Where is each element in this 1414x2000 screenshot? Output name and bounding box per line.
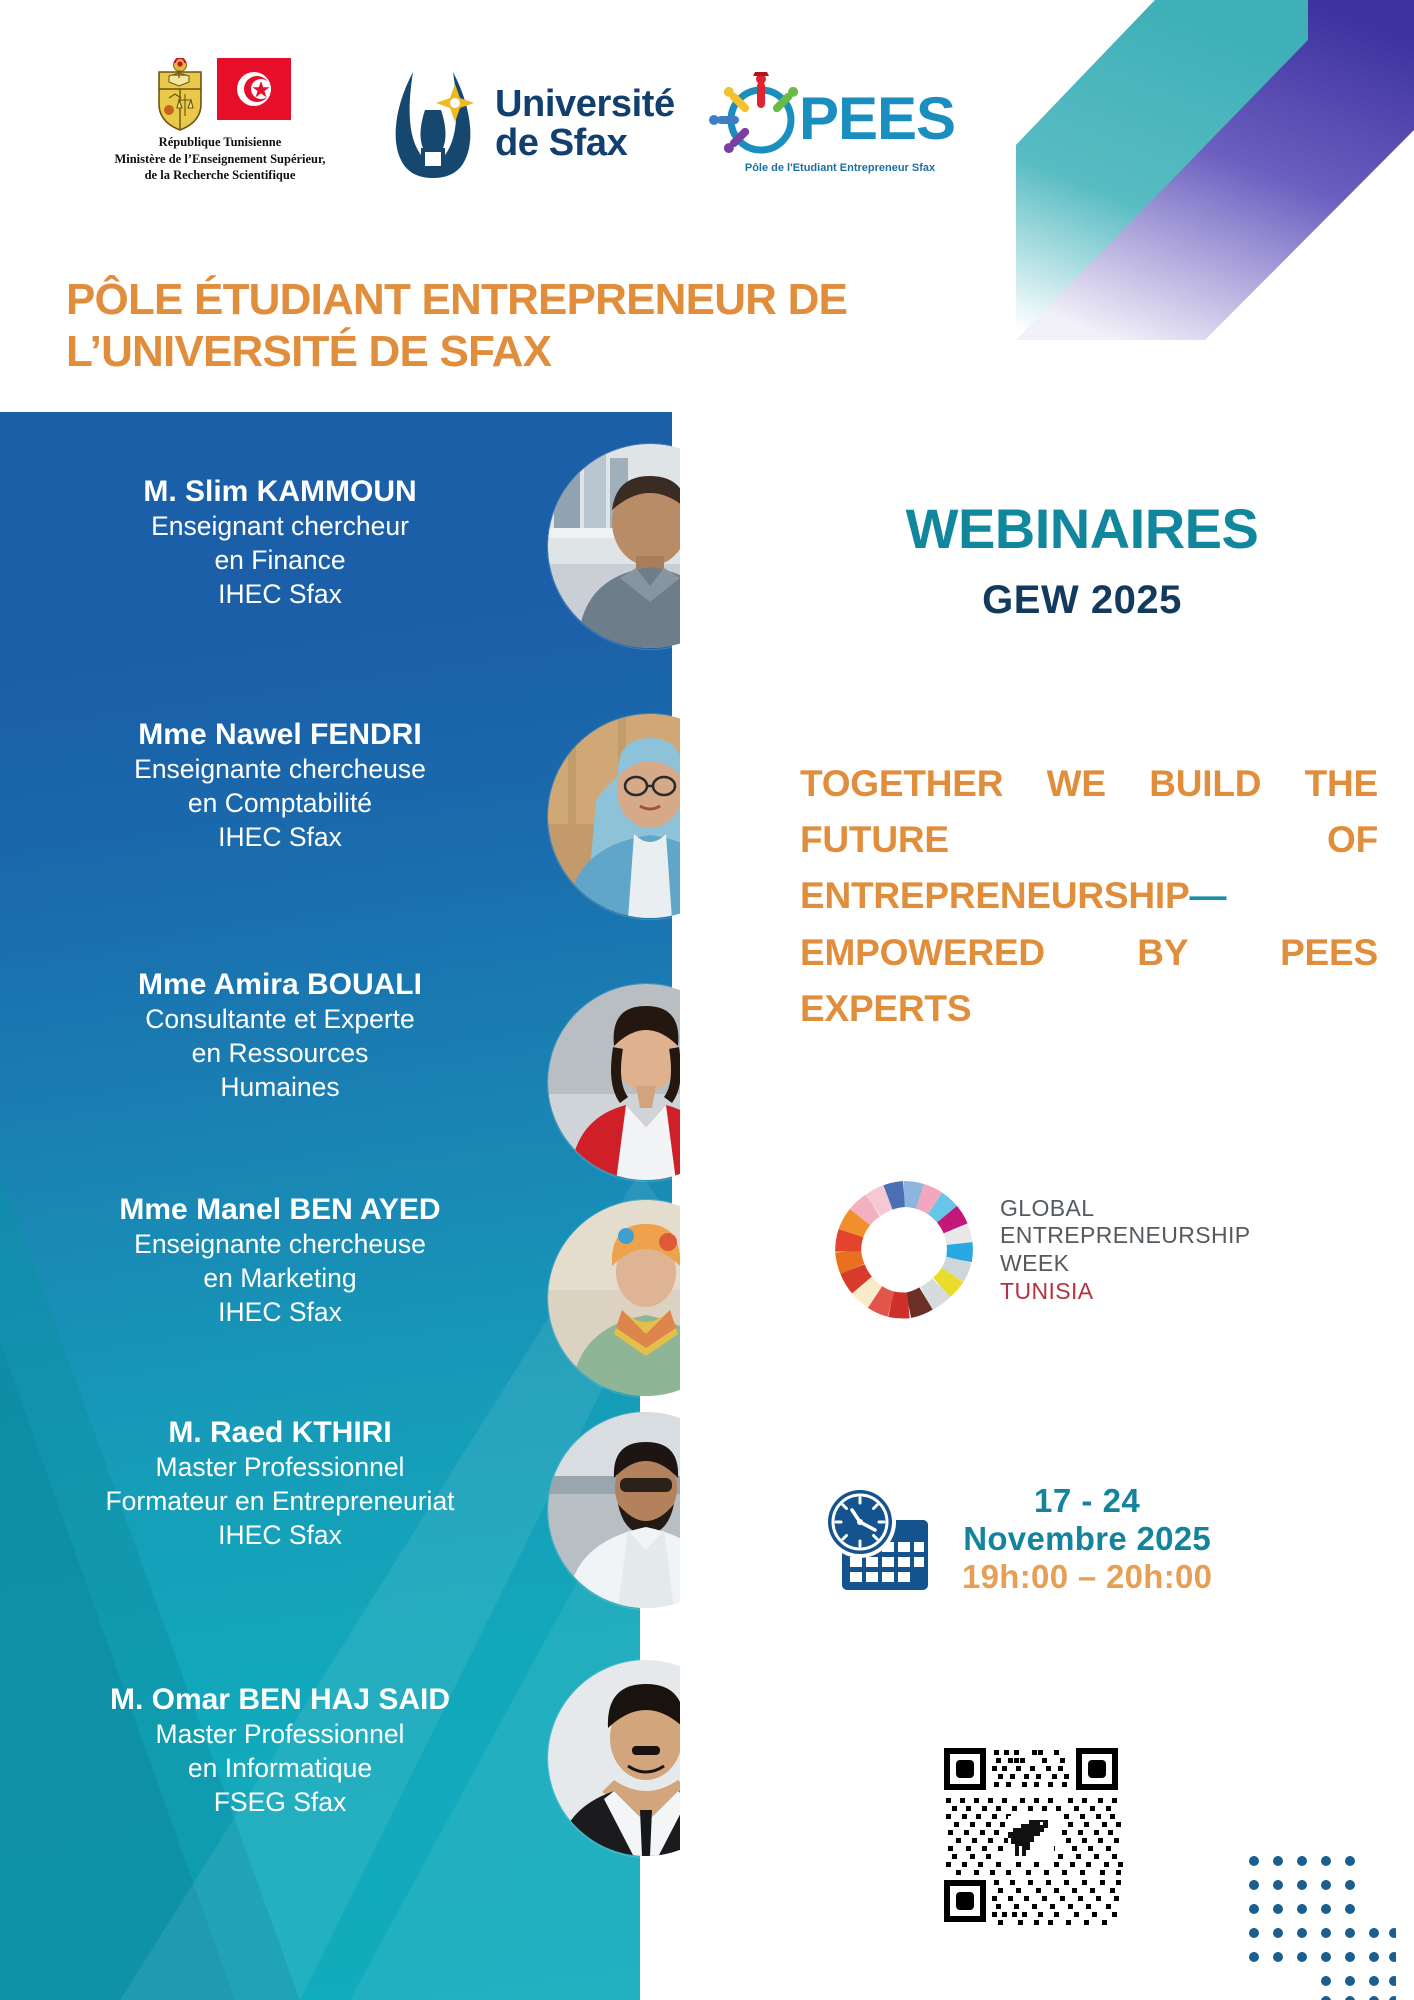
gew-logo-line-4: TUNISIA — [1000, 1278, 1251, 1306]
speaker-item: Mme Manel BEN AYED Enseignante chercheus… — [0, 1192, 560, 1330]
tunisia-flag-icon — [217, 58, 291, 120]
schedule-days: 17 - 24 — [962, 1482, 1212, 1520]
speaker-role-1: Enseignante chercheuse — [0, 1228, 560, 1262]
speaker-role-1: Master Professionnel — [0, 1718, 560, 1752]
pees-logo: PEES Pôle de l'Etudiant Entrepreneur Sfa… — [715, 72, 965, 174]
pees-acronym: PEES — [799, 84, 955, 153]
iso-ribbon-decoration — [990, 0, 1414, 340]
speaker-item: M. Slim KAMMOUN Enseignant chercheur en … — [0, 474, 560, 612]
gew-subheading: GEW 2025 — [822, 578, 1342, 623]
speaker-role-2: en Ressources — [0, 1037, 560, 1071]
speaker-role-3: IHEC Sfax — [0, 1296, 560, 1330]
gew-logo-line-1: GLOBAL — [1000, 1195, 1251, 1223]
header-logos: République Tunisienne Ministère de l’Ens… — [0, 62, 1000, 202]
speaker-item: Mme Amira BOUALI Consultante et Experte … — [0, 967, 560, 1105]
speaker-role-1: Enseignante chercheuse — [0, 753, 560, 787]
speaker-role-3: Humaines — [0, 1071, 560, 1105]
speakers-panel: M. Slim KAMMOUN Enseignant chercheur en … — [0, 412, 680, 2000]
speaker-name: Mme Amira BOUALI — [0, 967, 560, 1003]
speaker-role-3: IHEC Sfax — [0, 821, 560, 855]
page-title-line-1: PÔLE ÉTUDIANT ENTREPRENEUR DE — [66, 274, 996, 326]
page-title: PÔLE ÉTUDIANT ENTREPRENEUR DE L’UNIVERSI… — [66, 274, 996, 378]
speaker-role-2: en Informatique — [0, 1752, 560, 1786]
speaker-name: Mme Nawel FENDRI — [0, 717, 560, 753]
speaker-role-2: en Finance — [0, 544, 560, 578]
tagline: TOGETHER WE BUILD THE FUTURE OF ENTREPRE… — [800, 756, 1378, 1037]
speaker-item: M. Raed KTHIRI Master Professionnel Form… — [0, 1415, 560, 1553]
speaker-role-3: IHEC Sfax — [0, 578, 560, 612]
qr-code[interactable] — [936, 1740, 1126, 1930]
speaker-role-1: Enseignant chercheur — [0, 510, 560, 544]
university-line-1: Université — [495, 85, 675, 124]
schedule-block: 17 - 24 Novembre 2025 19h:00 – 20h:00 — [812, 1480, 1212, 1598]
page-title-line-2: L’UNIVERSITÉ DE SFAX — [66, 326, 996, 378]
tagline-rest: EMPOWERED BY PEES EXPERTS — [800, 932, 1378, 1029]
university-logo: Université de Sfax — [385, 66, 675, 182]
university-line-2: de Sfax — [495, 124, 675, 163]
speaker-name: M. Slim KAMMOUN — [0, 474, 560, 510]
ministry-line-2: Ministère de l’Enseignement Supérieur, — [100, 151, 340, 168]
speaker-role-2: en Marketing — [0, 1262, 560, 1296]
speaker-item: Mme Nawel FENDRI Enseignante chercheuse … — [0, 717, 560, 855]
poster-root: République Tunisienne Ministère de l’Ens… — [0, 0, 1414, 2000]
speaker-role-2: Formateur en Entrepreneuriat — [0, 1485, 560, 1519]
schedule-time: 19h:00 – 20h:00 — [962, 1558, 1212, 1596]
speaker-name: Mme Manel BEN AYED — [0, 1192, 560, 1228]
speaker-role-3: IHEC Sfax — [0, 1519, 560, 1553]
schedule-month-year: Novembre 2025 — [962, 1520, 1212, 1558]
dot-grid-decoration — [1248, 1855, 1396, 2000]
gew-logo-line-2: ENTREPRENEURSHIP — [1000, 1222, 1251, 1250]
speaker-name: M. Omar BEN HAJ SAID — [0, 1682, 560, 1718]
tagline-main: TOGETHER WE BUILD THE FUTURE OF ENTREPRE… — [800, 763, 1378, 916]
gew-color-wheel-icon — [830, 1176, 978, 1324]
speaker-name: M. Raed KTHIRI — [0, 1415, 560, 1451]
speaker-role-3: FSEG Sfax — [0, 1786, 560, 1820]
speaker-role-2: en Comptabilité — [0, 787, 560, 821]
clock-calendar-icon — [812, 1480, 938, 1598]
tagline-dash: — — [1189, 875, 1226, 916]
gew-logo: GLOBAL ENTREPRENEURSHIP WEEK TUNISIA — [830, 1176, 1251, 1324]
gew-logo-line-3: WEEK — [1000, 1250, 1251, 1278]
university-of-sfax-flame-icon — [385, 66, 481, 182]
ministry-logo: République Tunisienne Ministère de l’Ens… — [100, 58, 340, 184]
ministry-line-3: de la Recherche Scientifique — [100, 167, 340, 184]
speaker-item: M. Omar BEN HAJ SAID Master Professionne… — [0, 1682, 560, 1820]
speaker-role-1: Consultante et Experte — [0, 1003, 560, 1037]
speaker-role-1: Master Professionnel — [0, 1451, 560, 1485]
webinaires-heading: WEBINAIRES — [822, 496, 1342, 561]
ministry-line-1: République Tunisienne — [100, 134, 340, 151]
tunisia-coat-of-arms-icon — [149, 58, 211, 132]
